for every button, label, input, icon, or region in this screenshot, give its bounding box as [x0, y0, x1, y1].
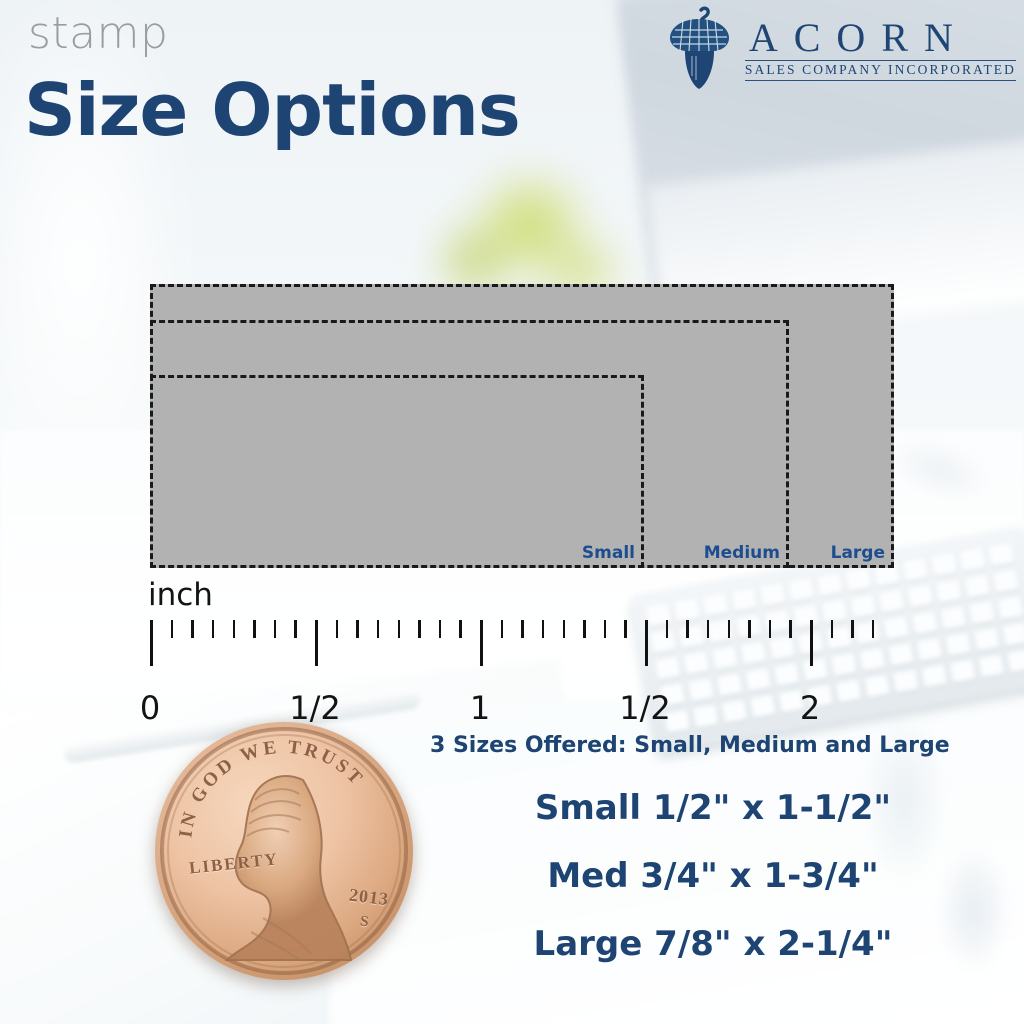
- page-title: Size Options: [24, 74, 520, 146]
- keyboard-key: [788, 578, 814, 602]
- ruler-label-3: 1/2: [619, 692, 671, 724]
- ruler-tick-minor: [748, 620, 751, 638]
- keyboard-key: [879, 590, 905, 614]
- keyboard-key: [950, 659, 976, 683]
- ruler-tick-minor: [728, 620, 731, 638]
- keyboard-key: [969, 601, 995, 625]
- ruler-tick-minor: [831, 620, 834, 638]
- keyboard-key: [750, 695, 776, 719]
- keyboard-key: [993, 569, 1019, 593]
- ruler-label-4: 2: [800, 692, 820, 724]
- keyboard-key: [717, 673, 743, 697]
- logo-brand-text: ACORN: [745, 17, 1016, 59]
- keyboard-key: [835, 679, 861, 703]
- ruler-tick-minor: [171, 620, 174, 638]
- ruler-tick-minor: [377, 620, 380, 638]
- ruler-tick-major: [480, 620, 483, 666]
- ruler-tick-minor: [624, 620, 627, 638]
- ruler-tick-major: [810, 620, 813, 666]
- ruler-tick-minor: [851, 620, 854, 638]
- keyboard-key: [693, 705, 719, 729]
- ruler-tick-minor: [212, 620, 215, 638]
- keyboard-key: [817, 573, 843, 597]
- ruler-tick-major: [315, 620, 318, 666]
- ruler-tick-minor: [789, 620, 792, 638]
- ruler-tick-minor: [294, 620, 297, 638]
- size-info-line-large: Large 7/8" x 2-1/4": [430, 927, 1024, 961]
- ruler-tick-minor: [666, 620, 669, 638]
- ruler-tick-minor: [336, 620, 339, 638]
- ruler-tick-minor: [233, 620, 236, 638]
- poster-canvas: stamp Size Options ACORN SALES COMPANY I…: [0, 0, 1024, 1024]
- ruler-tick-major: [150, 620, 153, 666]
- keyboard-key: [874, 563, 900, 587]
- ruler-tick-minor: [398, 620, 401, 638]
- ruler-tick-minor: [274, 620, 277, 638]
- us-penny-coin: IN GOD WE TRUST LIBERTY 2013 S: [155, 722, 413, 980]
- keyboard-key: [964, 575, 990, 599]
- keyboard-key: [674, 598, 700, 622]
- acorn-icon: [663, 6, 735, 92]
- keyboard-key: [731, 588, 757, 612]
- ruler-tick-minor: [686, 620, 689, 638]
- ruler-tick-minor: [769, 620, 772, 638]
- keyboard-key: [945, 633, 971, 657]
- ruler-tick-minor: [459, 620, 462, 638]
- keyboard-key: [931, 553, 957, 577]
- ruler-tick-minor: [521, 620, 524, 638]
- ruler-scale: [150, 620, 910, 666]
- keyboard-key: [850, 595, 876, 619]
- size-info-line-medium: Med 3/4" x 1-3/4": [430, 859, 1024, 893]
- ruler-tick-minor: [542, 620, 545, 638]
- keyboard-key: [864, 674, 890, 698]
- keyboard-key: [1007, 649, 1024, 673]
- ruler-tick-minor: [439, 620, 442, 638]
- keyboard-key: [921, 664, 947, 688]
- keyboard-key: [997, 596, 1023, 620]
- keyboard-key: [936, 580, 962, 604]
- ruler-tick-minor: [191, 620, 194, 638]
- page-kicker: stamp: [28, 12, 168, 56]
- keyboard-key: [721, 700, 747, 724]
- ruler-tick-minor: [501, 620, 504, 638]
- ruler-tick-minor: [563, 620, 566, 638]
- size-info-line-small: Small 1/2" x 1-1/2": [430, 791, 1024, 825]
- background-plant: [380, 130, 670, 380]
- keyboard-key: [702, 593, 728, 617]
- ruler-label-1: 1/2: [289, 692, 341, 724]
- keyboard-key: [902, 558, 928, 582]
- keyboard-key: [916, 638, 942, 662]
- keyboard-key: [960, 548, 986, 572]
- keyboard-key: [907, 585, 933, 609]
- ruler-tick-minor: [356, 620, 359, 638]
- keyboard-key: [978, 654, 1004, 678]
- ruler-label-2: 1: [470, 692, 490, 724]
- ruler-tick-minor: [253, 620, 256, 638]
- keyboard-key: [974, 628, 1000, 652]
- ruler-tick-minor: [604, 620, 607, 638]
- ruler-tick-minor: [707, 620, 710, 638]
- size-info-block: 3 Sizes Offered: Small, Medium and Large…: [430, 735, 1024, 961]
- keyboard-key: [688, 678, 714, 702]
- logo-rule-bottom: [745, 80, 1016, 81]
- penny-relief: IN GOD WE TRUST: [155, 722, 413, 980]
- keyboard-key: [988, 543, 1014, 567]
- keyboard-key: [845, 568, 871, 592]
- ruler-tick-minor: [872, 620, 875, 638]
- ruler-tick-minor: [418, 620, 421, 638]
- ruler-label-0: 0: [140, 692, 160, 724]
- penny-mint-mark: S: [359, 914, 369, 932]
- brand-logo[interactable]: ACORN SALES COMPANY INCORPORATED: [663, 6, 1016, 92]
- logo-wordmark: ACORN SALES COMPANY INCORPORATED: [745, 17, 1016, 81]
- keyboard-key: [893, 669, 919, 693]
- ruler-tick-minor: [583, 620, 586, 638]
- keyboard-key: [1002, 623, 1024, 647]
- logo-tagline: SALES COMPANY INCORPORATED: [745, 63, 1016, 78]
- size-info-heading: 3 Sizes Offered: Small, Medium and Large: [430, 735, 1024, 757]
- keyboard-key: [940, 606, 966, 630]
- keyboard-key: [774, 663, 800, 687]
- ruler-tick-major: [645, 620, 648, 666]
- logo-rule-top: [745, 60, 1016, 61]
- keyboard-key: [745, 668, 771, 692]
- keyboard-key: [912, 611, 938, 635]
- keyboard-key: [760, 583, 786, 607]
- ruler-unit-label: inch: [148, 580, 213, 611]
